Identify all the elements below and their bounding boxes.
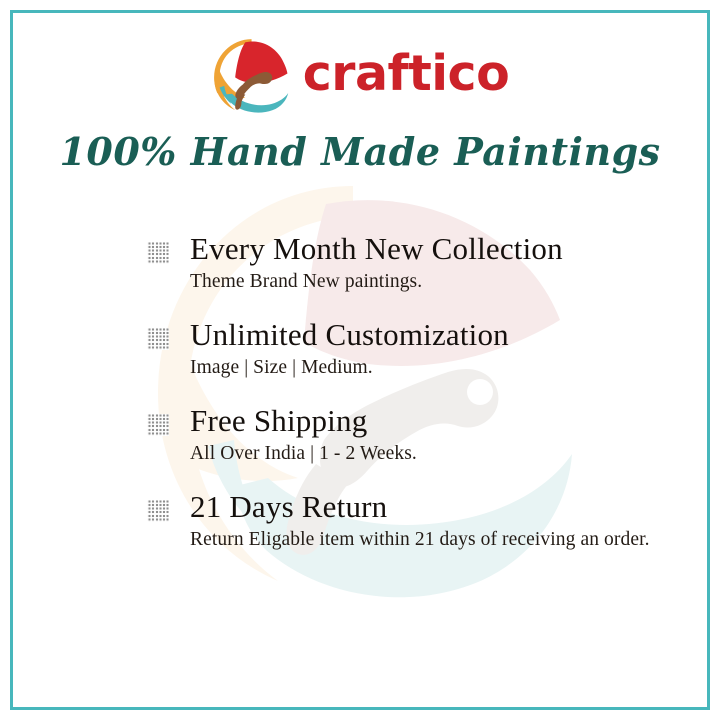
woven-grid-square-icon: [147, 328, 169, 350]
woven-grid-square-icon: [147, 414, 169, 436]
feature-title: Free Shipping: [190, 404, 666, 439]
feature-subtitle: Theme Brand New paintings.: [190, 269, 666, 295]
feature-subtitle: All Over India | 1 - 2 Weeks.: [190, 441, 666, 467]
promo-poster: craftico 100% Hand Made Paintings Every …: [0, 0, 720, 720]
feature-subtitle: Return Eligable item within 21 days of r…: [190, 527, 666, 553]
feature-title: 21 Days Return: [190, 490, 666, 525]
list-item: Free Shipping All Over India | 1 - 2 Wee…: [146, 404, 666, 467]
page-title: 100% Hand Made Paintings: [0, 129, 720, 174]
craftico-c-paintbrush-icon: [211, 36, 289, 114]
woven-grid-square-icon: [147, 242, 169, 264]
woven-grid-square-icon: [147, 500, 169, 522]
list-item: Every Month New Collection Theme Brand N…: [146, 232, 666, 295]
brand-logo: craftico: [0, 32, 720, 118]
feature-title: Unlimited Customization: [190, 318, 666, 353]
feature-list: Every Month New Collection Theme Brand N…: [146, 232, 666, 553]
list-item: 21 Days Return Return Eligable item with…: [146, 490, 666, 553]
list-item: Unlimited Customization Image | Size | M…: [146, 318, 666, 381]
feature-subtitle: Image | Size | Medium.: [190, 355, 666, 381]
brand-wordmark: craftico: [303, 49, 510, 102]
feature-title: Every Month New Collection: [190, 232, 666, 267]
